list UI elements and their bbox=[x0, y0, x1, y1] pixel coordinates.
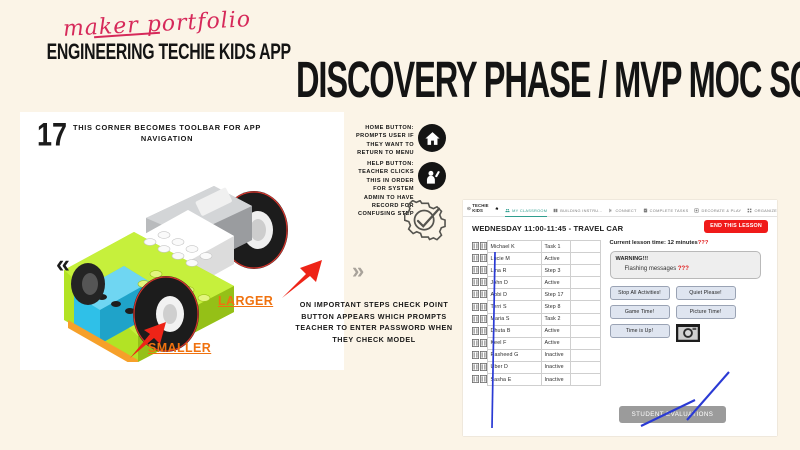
warning-subtitle-text: Flashing messages bbox=[625, 266, 677, 272]
grid-icon bbox=[747, 208, 752, 213]
flow-arrows-icon: » bbox=[352, 258, 359, 284]
student-extra[interactable] bbox=[570, 277, 600, 289]
student-status: Active bbox=[541, 325, 570, 337]
table-row[interactable]: Maria S Task 2 bbox=[487, 313, 600, 325]
avatar bbox=[472, 349, 487, 361]
lesson-time-readout: Current lesson time: 12 minutes??? bbox=[610, 240, 761, 246]
app-navbar: TECHIE KIDS MY CLASSROOM BUILDING INSTRU… bbox=[463, 200, 777, 217]
nav-label: ORGANIZE bbox=[754, 208, 777, 213]
avatar bbox=[472, 276, 487, 288]
student-status: Active bbox=[541, 253, 570, 265]
chevron-left-marker: « bbox=[56, 252, 64, 277]
avatar bbox=[472, 240, 487, 252]
student-extra[interactable] bbox=[570, 325, 600, 337]
stop-all-activities-button[interactable]: Stop All Activities! bbox=[610, 286, 670, 300]
table-row[interactable]: Lucie M Active bbox=[487, 253, 600, 265]
app-logo-text: TECHIE KIDS bbox=[472, 203, 494, 213]
palette-icon bbox=[694, 208, 699, 213]
table-row[interactable]: Abbi D Step 17 bbox=[487, 289, 600, 301]
avatar bbox=[472, 361, 487, 373]
warning-title: WARNING!!! bbox=[616, 256, 755, 262]
table-row[interactable]: Lina R Step 3 bbox=[487, 265, 600, 277]
student-status: Inactive bbox=[541, 349, 570, 361]
nav-label: BUILDING INSTRU... bbox=[560, 208, 602, 213]
student-extra[interactable] bbox=[570, 301, 600, 313]
toolbar-corner-annotation: THIS CORNER BECOMES TOOLBAR FOR APP NAVI… bbox=[72, 123, 262, 144]
student-avatar-column bbox=[472, 240, 487, 386]
raised-hand-person-glyph bbox=[423, 167, 442, 186]
camera-icon[interactable] bbox=[676, 324, 700, 342]
student-status: Inactive bbox=[541, 374, 570, 386]
avatar bbox=[472, 252, 487, 264]
student-extra[interactable] bbox=[570, 349, 600, 361]
app-logo[interactable]: TECHIE KIDS bbox=[467, 203, 499, 213]
blue-annotation-line bbox=[489, 252, 499, 428]
people-icon bbox=[505, 208, 510, 213]
student-status: Task 1 bbox=[541, 241, 570, 253]
nav-label: MY CLASSROOM bbox=[512, 208, 547, 213]
slide-header: maker portfolio ENGINEERING TECHIE KIDS … bbox=[0, 0, 800, 105]
bluetooth-icon bbox=[608, 208, 613, 213]
avatar bbox=[472, 337, 487, 349]
student-status: Active bbox=[541, 277, 570, 289]
nav-item-my-classroom[interactable]: MY CLASSROOM bbox=[505, 200, 547, 217]
smaller-label: SMALLER bbox=[148, 341, 211, 355]
lego-car-illustration bbox=[38, 144, 328, 362]
larger-arrow-icon bbox=[280, 258, 326, 300]
clipboard-icon bbox=[643, 208, 648, 213]
camera-glyph bbox=[676, 324, 700, 342]
home-icon bbox=[418, 124, 446, 152]
table-row[interactable]: Michael K Task 1 bbox=[487, 241, 600, 253]
student-extra[interactable] bbox=[570, 361, 600, 373]
picture-time-button[interactable]: Picture Time! bbox=[676, 305, 736, 319]
student-extra[interactable] bbox=[570, 241, 600, 253]
table-row[interactable]: Rasheed G Inactive bbox=[487, 349, 600, 361]
table-row[interactable]: John D Active bbox=[487, 277, 600, 289]
help-icon bbox=[418, 162, 446, 190]
avatar bbox=[472, 325, 487, 337]
student-status: Step 17 bbox=[541, 289, 570, 301]
nav-item-complete-tasks[interactable]: COMPLETE TASKS bbox=[643, 200, 689, 217]
student-extra[interactable] bbox=[570, 313, 600, 325]
warning-panel: WARNING!!! Flashing messages ??? bbox=[610, 251, 761, 279]
student-status: Task 2 bbox=[541, 313, 570, 325]
nav-label: CONNECT bbox=[615, 208, 636, 213]
quiet-please-button[interactable]: Quiet Please! bbox=[676, 286, 736, 300]
student-status: Step 8 bbox=[541, 301, 570, 313]
end-lesson-button[interactable]: END THIS LESSON bbox=[704, 220, 768, 233]
nav-item-organize[interactable]: ORGANIZE bbox=[747, 200, 777, 217]
student-extra[interactable] bbox=[570, 253, 600, 265]
avatar bbox=[472, 300, 487, 312]
avatar bbox=[472, 373, 487, 385]
table-row[interactable]: Keel F Active bbox=[487, 337, 600, 349]
table-row[interactable]: Dhuta B Active bbox=[487, 325, 600, 337]
blue-annotation-mark-2 bbox=[639, 398, 709, 428]
page-title: DISCOVERY PHASE / MVP MOC SCREENS bbox=[296, 52, 800, 110]
teacher-controls-panel: Current lesson time: 12 minutes??? WARNI… bbox=[601, 240, 761, 386]
avatar bbox=[472, 288, 487, 300]
lesson-time-query: ??? bbox=[698, 240, 709, 246]
gear-logo-icon bbox=[467, 206, 471, 211]
avatar bbox=[472, 313, 487, 325]
table-row[interactable]: Sasha E Inactive bbox=[487, 374, 600, 386]
student-status: Step 3 bbox=[541, 265, 570, 277]
checkpoint-annotation-text: ON IMPORTANT STEPS CHECK POINT BUTTON AP… bbox=[288, 299, 460, 345]
student-table: Michael K Task 1 Lucie M Active Lina R S… bbox=[487, 240, 601, 386]
student-name: Michael K bbox=[487, 241, 541, 253]
larger-label: LARGER bbox=[218, 294, 273, 308]
home-button-annotation-text: HOME BUTTON: PROMPTS USER IF THEY WANT T… bbox=[352, 124, 414, 158]
lesson-time-label: Current lesson time: 12 minutes bbox=[610, 240, 698, 246]
brand-subtitle: ENGINEERING TECHIE KIDS APP bbox=[47, 40, 268, 66]
nav-item-decorate-and-play[interactable]: DECORATE & PLAY bbox=[694, 200, 741, 217]
student-status: Inactive bbox=[541, 361, 570, 373]
nav-item-connect[interactable]: CONNECT bbox=[608, 200, 636, 217]
warning-subtitle: Flashing messages ??? bbox=[616, 266, 755, 272]
student-extra[interactable] bbox=[570, 265, 600, 277]
nav-label: COMPLETE TASKS bbox=[650, 208, 689, 213]
brand-logo: maker portfolio ENGINEERING TECHIE KIDS … bbox=[42, 12, 272, 59]
time-is-up-button[interactable]: Time is Up! bbox=[610, 324, 670, 338]
table-row[interactable]: Uber D Inactive bbox=[487, 361, 600, 373]
brand-script-text: maker portfolio bbox=[42, 6, 273, 43]
table-row[interactable]: Terri S Step 8 bbox=[487, 301, 600, 313]
warning-query: ??? bbox=[678, 266, 689, 272]
nav-item-building-instructions[interactable]: BUILDING INSTRU... bbox=[553, 200, 602, 217]
avatar bbox=[472, 264, 487, 276]
home-nav-icon[interactable] bbox=[495, 206, 499, 211]
nav-label: DECORATE & PLAY bbox=[701, 208, 741, 213]
quick-action-buttons: Stop All Activities! Quiet Please! Game … bbox=[610, 286, 761, 342]
home-button-annotation: HOME BUTTON: PROMPTS USER IF THEY WANT T… bbox=[352, 124, 414, 158]
book-icon bbox=[553, 208, 558, 213]
student-extra[interactable] bbox=[570, 374, 600, 386]
student-extra[interactable] bbox=[570, 337, 600, 349]
game-time-button[interactable]: Game Time! bbox=[610, 305, 670, 319]
checkpoint-gear-check-icon bbox=[404, 200, 446, 242]
home-glyph bbox=[424, 130, 441, 147]
student-status: Active bbox=[541, 337, 570, 349]
student-extra[interactable] bbox=[570, 289, 600, 301]
app-content: WEDNESDAY 11:00-11:45 - TRAVEL CAR END T… bbox=[463, 217, 777, 386]
